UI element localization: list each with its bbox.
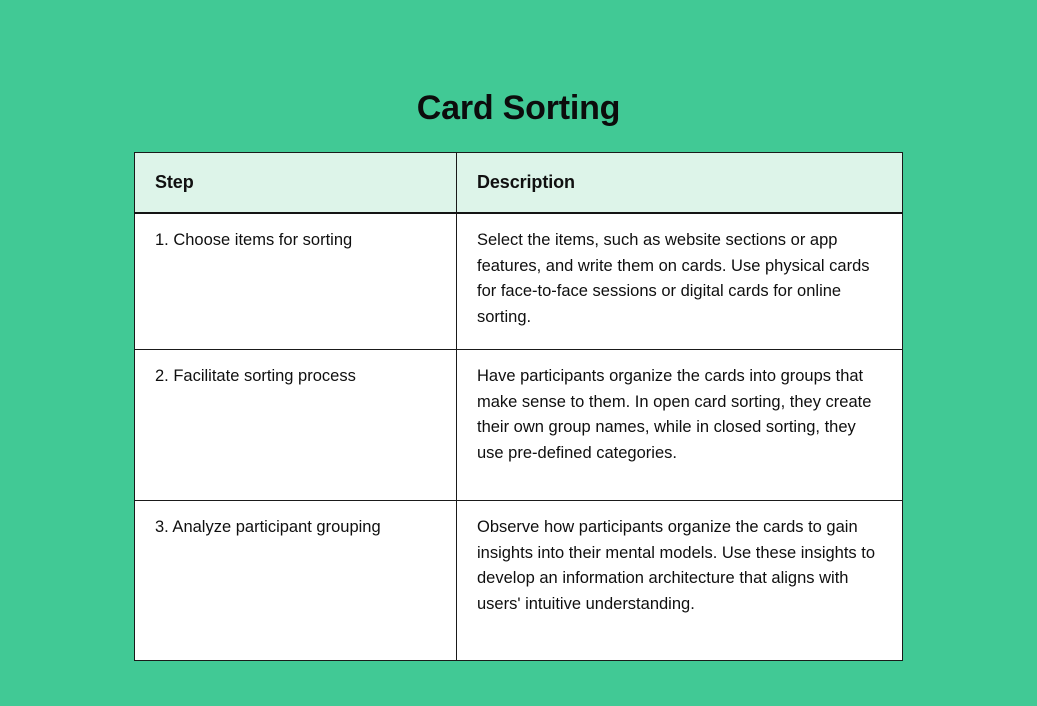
page-title: Card Sorting — [0, 85, 1037, 131]
cell-description: Observe how participants organize the ca… — [457, 501, 903, 661]
cell-description: Have participants organize the cards int… — [457, 350, 903, 501]
table-row: 3. Analyze participant grouping Observe … — [135, 501, 903, 661]
cell-description: Select the items, such as website sectio… — [457, 213, 903, 350]
table-row: 2. Facilitate sorting process Have parti… — [135, 350, 903, 501]
steps-table: Step Description 1. Choose items for sor… — [134, 152, 903, 661]
column-header-step: Step — [135, 153, 457, 214]
table-row: 1. Choose items for sorting Select the i… — [135, 213, 903, 350]
cell-step: 1. Choose items for sorting — [135, 213, 457, 350]
column-header-description: Description — [457, 153, 903, 214]
cell-step: 2. Facilitate sorting process — [135, 350, 457, 501]
table-header: Step Description — [135, 153, 903, 214]
table-header-row: Step Description — [135, 153, 903, 214]
cell-step: 3. Analyze participant grouping — [135, 501, 457, 661]
page-root: Card Sorting Step Description 1. Choose … — [0, 0, 1037, 706]
steps-table-container: Step Description 1. Choose items for sor… — [134, 152, 902, 661]
table-body: 1. Choose items for sorting Select the i… — [135, 213, 903, 661]
